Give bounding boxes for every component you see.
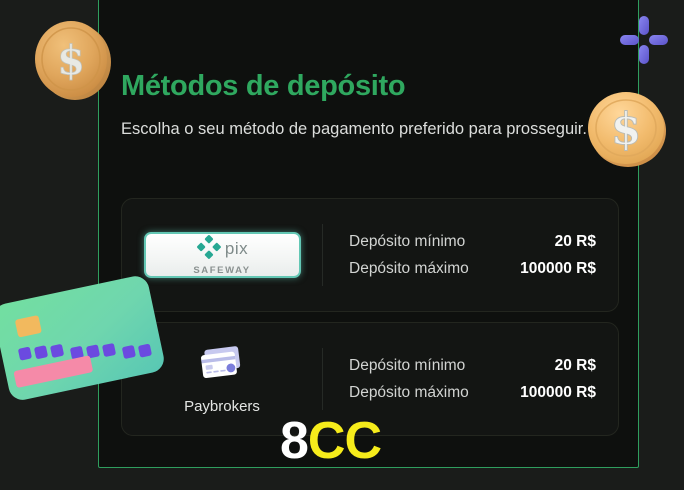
watermark-text-part-two: CC [308, 412, 381, 470]
maximum-deposit-value: 100000 R$ [520, 379, 596, 406]
minimum-deposit-row: Depósito mínimo 20 R$ [349, 228, 596, 255]
page-title: Métodos de depósito [121, 69, 618, 103]
watermark-text-part-one: 8 [280, 412, 308, 470]
maximum-deposit-row: Depósito máximo 100000 R$ [349, 379, 596, 406]
maximum-deposit-row: Depósito máximo 100000 R$ [349, 255, 596, 282]
deposit-methods-panel: Métodos de depósito Escolha o seu método… [98, 0, 639, 468]
paybrokers-label: Paybrokers [184, 398, 260, 415]
minimum-deposit-value: 20 R$ [555, 352, 596, 379]
pix-wordmark: pix [225, 241, 248, 257]
gold-dollar-coin-icon: $ [585, 88, 667, 168]
safeway-wordmark: SAFEWAY [193, 265, 250, 276]
svg-text:$: $ [611, 104, 642, 155]
purple-plus-shape-icon [618, 14, 670, 66]
panel-header: Métodos de depósito Escolha o seu método… [121, 69, 618, 143]
minimum-deposit-label: Depósito mínimo [349, 228, 465, 255]
credit-card-illustration [0, 272, 174, 404]
method-limits-pix: Depósito mínimo 20 R$ Depósito máximo 10… [323, 228, 618, 282]
gold-dollar-coin-icon: $ [31, 16, 113, 102]
maximum-deposit-label: Depósito máximo [349, 255, 469, 282]
svg-text:$: $ [57, 37, 85, 84]
page-subtitle: Escolha o seu método de pagamento prefer… [121, 116, 591, 143]
minimum-deposit-value: 20 R$ [555, 228, 596, 255]
pix-logo-row: pix [196, 234, 248, 264]
watermark-overlay: 8CC [280, 415, 381, 467]
method-limits-paybrokers: Depósito mínimo 20 R$ Depósito máximo 10… [323, 352, 618, 406]
maximum-deposit-label: Depósito máximo [349, 379, 469, 406]
minimum-deposit-row: Depósito mínimo 20 R$ [349, 352, 596, 379]
payment-method-card-pix[interactable]: pix SAFEWAY Depósito mínimo 20 R$ Depósi… [121, 198, 619, 312]
credit-cards-icon [196, 344, 248, 391]
payment-methods-list: pix SAFEWAY Depósito mínimo 20 R$ Depósi… [121, 198, 619, 446]
maximum-deposit-value: 100000 R$ [520, 255, 596, 282]
minimum-deposit-label: Depósito mínimo [349, 352, 465, 379]
pix-diamond-icon [196, 234, 221, 264]
